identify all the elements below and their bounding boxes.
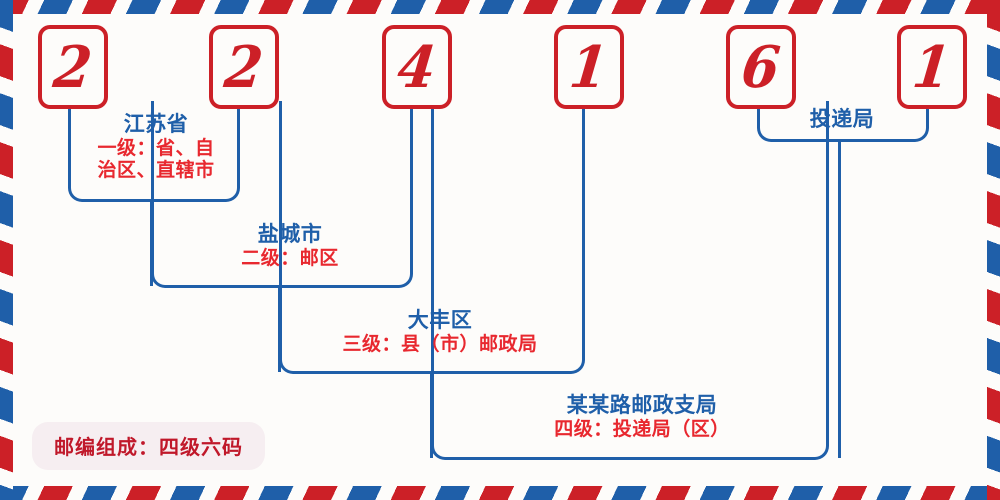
digit-glyph-2: 2 <box>222 38 266 95</box>
label-level-3-desc: 三级：县（市）邮政局 <box>310 334 570 356</box>
label-level-2-desc: 二级：邮区 <box>200 248 380 270</box>
label-level-3: 大丰区 三级：县（市）邮政局 <box>310 308 570 356</box>
label-level-1-name: 江苏省 <box>76 112 236 136</box>
label-level-2-name: 盐城市 <box>200 222 380 246</box>
label-level-4-name: 某某路邮政支局 <box>512 393 772 417</box>
digit-glyph-5: 6 <box>739 38 783 95</box>
digit-card-6: 1 <box>897 25 967 109</box>
digit-glyph-1: 2 <box>51 38 95 95</box>
digit-glyph-3: 4 <box>395 38 439 95</box>
digit-card-4: 1 <box>554 25 624 109</box>
digit-card-3: 4 <box>382 25 452 109</box>
digit-card-5: 6 <box>726 25 796 109</box>
label-level-4-desc: 四级：投递局（区） <box>512 419 772 441</box>
label-level-2: 盐城市 二级：邮区 <box>200 222 380 270</box>
label-level-1-desc-line1: 一级：省、自 <box>80 138 232 160</box>
label-level-1-desc: 一级：省、自 治区、直辖市 <box>80 138 232 182</box>
airmail-border-left <box>0 0 13 500</box>
label-level-1: 江苏省 一级：省、自 治区、直辖市 <box>76 112 236 182</box>
label-level-4: 某某路邮政支局 四级：投递局（区） <box>512 393 772 441</box>
digit-card-2: 2 <box>209 25 279 109</box>
digit-glyph-4: 1 <box>567 38 611 95</box>
airmail-border-top <box>0 0 1000 14</box>
label-level-1-desc-line2: 治区、直辖市 <box>80 160 232 182</box>
digit-glyph-6: 1 <box>910 38 954 95</box>
digit-card-1: 2 <box>38 25 108 109</box>
label-level-3-name: 大丰区 <box>310 308 570 332</box>
stem-delivery-office <box>838 139 841 458</box>
airmail-border-bottom <box>0 486 1000 500</box>
label-delivery-office-name: 投递局 <box>768 107 916 131</box>
label-delivery-office: 投递局 <box>768 107 916 131</box>
postcode-composition-note-text: 邮编组成：四级六码 <box>54 435 243 459</box>
postcode-infographic: 2 2 4 1 6 1 江苏省 一级：省、自 治区、直辖市 盐城市 二级：邮区 <box>0 0 1000 500</box>
postcode-composition-note: 邮编组成：四级六码 <box>32 422 265 470</box>
airmail-border-right <box>987 0 1000 500</box>
